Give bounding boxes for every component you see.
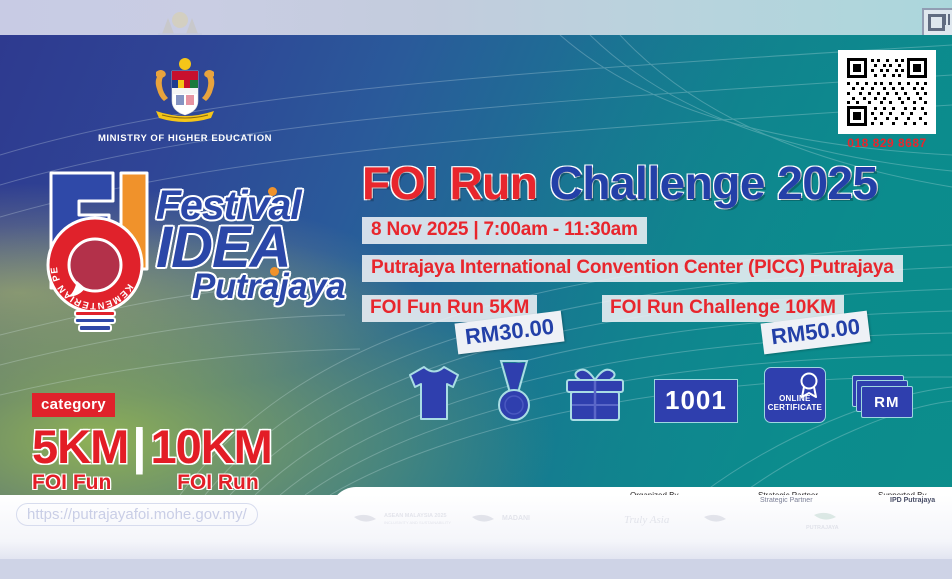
event-title-blue: Challenge 2025: [550, 157, 878, 209]
online-certificate-badge: ONLINE CERTIFICATE: [764, 367, 826, 423]
svg-text:ASEAN MALAYSIA 2025: ASEAN MALAYSIA 2025: [384, 513, 447, 519]
ministry-label: MINISTRY OF HIGHER EDUCATION: [95, 133, 275, 144]
page-reflection-strip: https://putrajayafoi.mohe.gov.my/ ASEAN …: [0, 495, 952, 579]
svg-text:MADANI: MADANI: [502, 515, 530, 522]
distance-separator: |: [133, 423, 145, 470]
putrajaya-dot-icon: [270, 267, 279, 276]
category-subtitles: FOI Fun Run FOI Run Challenge: [32, 471, 362, 495]
foi-lightbulb-mark-icon: KEMENTERIAN PENDIDIKAN TINGGI: [33, 163, 163, 338]
perks-row: 1001 ONLINE CERTIFICATE RM: [402, 357, 914, 423]
event-headline-block: FOI Run Challenge 2025 8 Nov 2025 | 7:00…: [362, 160, 937, 351]
category-tag: category: [32, 393, 115, 417]
screenshot-stage: MINISTRY OF HIGHER EDUCATION: [0, 0, 952, 579]
distance-5km: 5KM: [32, 423, 128, 470]
cash-prize-cards: RM: [852, 375, 914, 423]
tshirt-icon: [402, 361, 466, 423]
contact-phone-number: 018 829 8687: [838, 136, 936, 150]
bib-number-badge: 1001: [654, 379, 738, 423]
sponsor-footer-panel: Organized By Strategic Partner Supported…: [330, 487, 952, 495]
event-title-red: FOI Run: [362, 157, 537, 209]
festival-line-1: Festival: [156, 187, 371, 225]
poster-canvas: MINISTRY OF HIGHER EDUCATION: [0, 35, 952, 495]
ghost-qr-icon: [922, 8, 952, 38]
svg-text:Truly Asia: Truly Asia: [624, 514, 670, 526]
event-datetime: 8 Nov 2025 | 7:00am - 11:30am: [362, 217, 647, 244]
event-venue: Putrajaya International Convention Cente…: [362, 255, 903, 282]
event-title: FOI Run Challenge 2025: [362, 160, 937, 206]
svg-text:INCLUSIVITY AND SUSTAINABILITY: INCLUSIVITY AND SUSTAINABILITY: [384, 520, 451, 525]
category-block: category 5KM | 10KM FOI Fun Run FOI Run …: [32, 393, 362, 495]
ghost-coat-of-arms-icon: [148, 8, 212, 36]
reflected-ipd-label: IPD Putrajaya: [890, 497, 935, 504]
category-distances: 5KM | 10KM: [32, 423, 362, 470]
certificate-label-bottom: CERTIFICATE: [768, 403, 823, 412]
festival-dot-icon: [268, 187, 277, 196]
festival-wordmark: Festival IDEA Putrajaya: [156, 187, 371, 303]
reflected-strategic-partner-label: Strategic Partner: [760, 497, 813, 504]
reflected-sponsor-logos: ASEAN MALAYSIA 2025 INCLUSIVITY AND SUST…: [344, 503, 944, 543]
malaysia-coat-of-arms-icon: [142, 55, 228, 127]
pricing-row: FOI Fun Run 5KM RM30.00 FOI Run Challeng…: [362, 295, 937, 351]
gift-box-icon: [562, 363, 628, 423]
page-top-strip: [0, 0, 952, 35]
ministry-crest-block: MINISTRY OF HIGHER EDUCATION: [95, 55, 275, 144]
medal-icon: [492, 357, 536, 423]
cash-card-front: RM: [861, 386, 913, 418]
svg-text:PUTRAJAYA: PUTRAJAYA: [806, 525, 839, 531]
qr-block[interactable]: 018 829 8687: [838, 50, 936, 150]
distance-10km: 10KM: [150, 423, 271, 470]
festival-idea-logo-lockup: KEMENTERIAN PENDIDIKAN TINGGI Festival I…: [28, 155, 358, 345]
reflected-url-pill: https://putrajayafoi.mohe.gov.my/: [16, 503, 258, 526]
festival-line-2: IDEA: [156, 221, 371, 274]
registration-qr-code[interactable]: [838, 50, 936, 134]
page-bottom-fade: [0, 559, 952, 579]
reflected-url-text: https://putrajayafoi.mohe.gov.my/: [0, 497, 320, 531]
category-sub-fun-run: FOI Fun Run: [32, 471, 155, 495]
festival-line-3: Putrajaya: [192, 271, 371, 303]
